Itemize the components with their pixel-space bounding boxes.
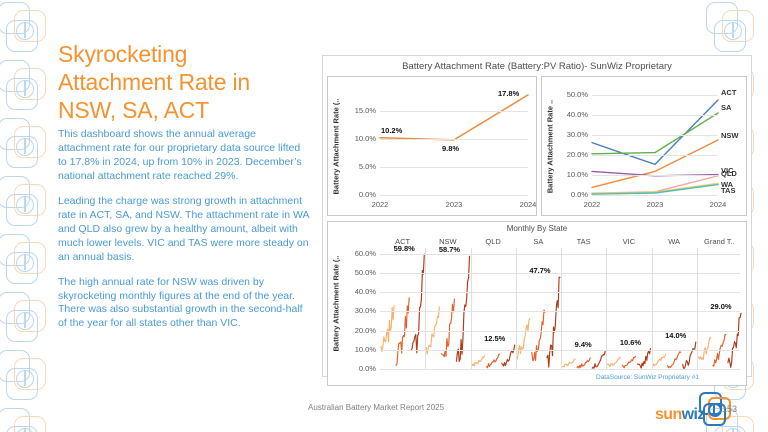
panel-header-wa: WA bbox=[652, 237, 697, 246]
chart-series-line bbox=[668, 352, 681, 368]
chart-series-line bbox=[592, 176, 718, 193]
y-axis-tick-label: 60.0% bbox=[342, 249, 376, 258]
panel-value-label-grandt: 29.0% bbox=[710, 302, 731, 311]
chart-series-line bbox=[502, 345, 515, 366]
sunwiz-logo: sunwiz bbox=[655, 394, 725, 426]
y-axis-tick-label: 50.0% bbox=[342, 268, 376, 277]
body-paragraph: This dashboard shows the annual average … bbox=[58, 128, 310, 184]
gridline bbox=[380, 292, 740, 293]
data-point-label: 10.2% bbox=[381, 126, 402, 135]
chart-series-line bbox=[411, 254, 424, 353]
chart-series-line bbox=[547, 277, 560, 367]
y-axis-tick-label: 10.0% bbox=[342, 345, 376, 354]
chart-series-line bbox=[728, 313, 741, 367]
panel-divider bbox=[606, 248, 607, 369]
panel-divider bbox=[516, 248, 517, 369]
chart-national-annual[interactable]: Battery Attachment Rate (..0.0%5.0%10.0%… bbox=[327, 76, 537, 216]
chart-by-state-annual[interactable]: Battery Attachment Rate ..0.0%10.0%20.0%… bbox=[541, 76, 747, 216]
gridline bbox=[380, 254, 740, 255]
y-axis-tick-label: 10.0% bbox=[554, 170, 588, 179]
decorative-logo-icon bbox=[0, 290, 62, 348]
chart-series-line bbox=[381, 306, 394, 352]
sunwiz-wordmark: sunwiz bbox=[655, 406, 705, 424]
body-paragraph: The high annual rate for NSW was driven … bbox=[58, 276, 310, 332]
chart-series-line bbox=[532, 310, 545, 361]
footer-report-title: Australian Battery Market Report 2025 bbox=[308, 403, 444, 412]
y-axis-tick-label: 5.0% bbox=[342, 162, 376, 171]
series-label-sa: SA bbox=[721, 103, 731, 112]
decorative-logo-icon bbox=[0, 406, 62, 432]
y-axis-tick-label: 40.0% bbox=[342, 287, 376, 296]
dashboard-container: Battery Attachment Rate (Battery:PV Rati… bbox=[322, 55, 752, 377]
decorative-logo-icon bbox=[0, 348, 62, 406]
panel-value-label-qld: 12.5% bbox=[484, 334, 505, 343]
data-point-label: 9.8% bbox=[442, 144, 459, 153]
panel-header-qld: QLD bbox=[471, 237, 516, 246]
gridline bbox=[380, 350, 740, 351]
chart-series-line bbox=[562, 359, 575, 367]
gridline bbox=[592, 155, 718, 156]
y-axis-tick-label: 40.0% bbox=[554, 110, 588, 119]
y-axis-tick-label: 15.0% bbox=[342, 106, 376, 115]
series-label-act: ACT bbox=[721, 88, 736, 97]
decorative-logo-icon bbox=[0, 174, 62, 232]
gridline bbox=[380, 273, 740, 274]
body-copy: This dashboard shows the annual average … bbox=[58, 128, 310, 342]
chart-series-line bbox=[683, 342, 696, 368]
y-axis-tick-label: 0.0% bbox=[554, 190, 588, 199]
panel-divider bbox=[425, 248, 426, 369]
gridline bbox=[592, 195, 718, 196]
chart-monthly-by-state[interactable]: Monthly By StateBattery Attachment Rate … bbox=[327, 221, 747, 386]
body-paragraph: Leading the charge was strong growth in … bbox=[58, 195, 310, 265]
dashboard-title: Battery Attachment Rate (Battery:PV Rati… bbox=[323, 56, 751, 76]
panel-header-sa: SA bbox=[516, 237, 561, 246]
chart-series-line bbox=[637, 349, 650, 369]
x-axis-tick-label: 2022 bbox=[366, 200, 394, 209]
series-label-tas: TAS bbox=[721, 186, 735, 195]
dashboard-top-row: Battery Attachment Rate (..0.0%5.0%10.0%… bbox=[323, 76, 751, 216]
chart-series-line bbox=[517, 319, 530, 360]
y-axis-tick-label: 30.0% bbox=[342, 306, 376, 315]
panel-header-vic: VIC bbox=[606, 237, 651, 246]
gridline bbox=[380, 139, 528, 140]
panel-value-label-wa: 14.0% bbox=[665, 331, 686, 340]
y-axis-tick-label: 50.0% bbox=[554, 90, 588, 99]
chart-series-line bbox=[487, 354, 500, 368]
chart-series-line bbox=[653, 354, 666, 366]
x-axis-tick-label: 2024 bbox=[704, 200, 732, 209]
gridline bbox=[592, 135, 718, 136]
chart-series-line bbox=[441, 299, 454, 357]
panel-value-label-vic: 10.6% bbox=[620, 338, 641, 347]
panel-divider bbox=[471, 248, 472, 369]
y-axis-tick-label: 10.0% bbox=[342, 134, 376, 143]
datasource-note: DataSource: SunWiz Proprietary #1 bbox=[596, 374, 699, 381]
slide-canvas: SkyrocketingAttachment Rate inNSW, SA, A… bbox=[0, 0, 768, 432]
gridline bbox=[380, 311, 740, 312]
gridline bbox=[380, 369, 740, 370]
page-title-line: NSW, SA, ACT bbox=[58, 96, 308, 124]
decorative-logo-icon bbox=[0, 0, 62, 58]
chart-series-line bbox=[592, 183, 718, 193]
series-label-nsw: NSW bbox=[721, 131, 739, 140]
panel-value-label-sa: 47.7% bbox=[529, 266, 550, 275]
page-title-line: Skyrocketing bbox=[58, 40, 308, 68]
chart-series-line bbox=[472, 356, 485, 366]
chart-series-line bbox=[577, 358, 590, 368]
series-label-qld: QLD bbox=[721, 169, 737, 178]
panel-header-tas: TAS bbox=[561, 237, 606, 246]
page-number: 153 bbox=[722, 404, 737, 414]
gridline bbox=[380, 167, 528, 168]
chart-series-line bbox=[622, 356, 635, 367]
page-title-line: Attachment Rate in bbox=[58, 68, 308, 96]
gridline bbox=[380, 195, 528, 196]
chart-series-line bbox=[592, 351, 605, 368]
y-axis-tick-label: 0.0% bbox=[342, 364, 376, 373]
gridline bbox=[592, 115, 718, 116]
chart-series-line bbox=[607, 358, 620, 367]
y-axis-tick-label: 20.0% bbox=[342, 326, 376, 335]
panel-divider bbox=[652, 248, 653, 369]
gridline bbox=[380, 111, 528, 112]
panel-value-label-nsw: 58.7% bbox=[439, 245, 460, 254]
y-axis-tick-label: 0.0% bbox=[342, 190, 376, 199]
data-point-label: 17.8% bbox=[498, 89, 519, 98]
decorative-logo-icon bbox=[0, 232, 62, 290]
y-axis-tick-label: 30.0% bbox=[554, 130, 588, 139]
chart-series-line bbox=[698, 338, 711, 360]
logo-text-sun: sun bbox=[655, 406, 682, 423]
decorative-logo-icon bbox=[0, 116, 62, 174]
panel-header-grandt: Grand T.. bbox=[697, 237, 742, 246]
panel-divider bbox=[697, 248, 698, 369]
x-axis-tick-label: 2022 bbox=[578, 200, 606, 209]
x-axis-tick-label: 2023 bbox=[440, 200, 468, 209]
gridline bbox=[592, 175, 718, 176]
page-title: SkyrocketingAttachment Rate inNSW, SA, A… bbox=[58, 40, 308, 124]
y-axis-tick-label: 20.0% bbox=[554, 150, 588, 159]
decorative-pattern-left bbox=[0, 0, 62, 432]
gridline bbox=[592, 95, 718, 96]
decorative-logo-icon bbox=[0, 58, 62, 116]
x-axis-tick-label: 2023 bbox=[641, 200, 669, 209]
chart-svg bbox=[328, 222, 748, 385]
panel-divider bbox=[561, 248, 562, 369]
panel-value-label-tas: 9.4% bbox=[575, 340, 592, 349]
decorative-logo-icon bbox=[700, 0, 768, 58]
x-axis-tick-label: 2024 bbox=[514, 200, 542, 209]
panel-value-label-act: 59.8% bbox=[394, 244, 415, 253]
